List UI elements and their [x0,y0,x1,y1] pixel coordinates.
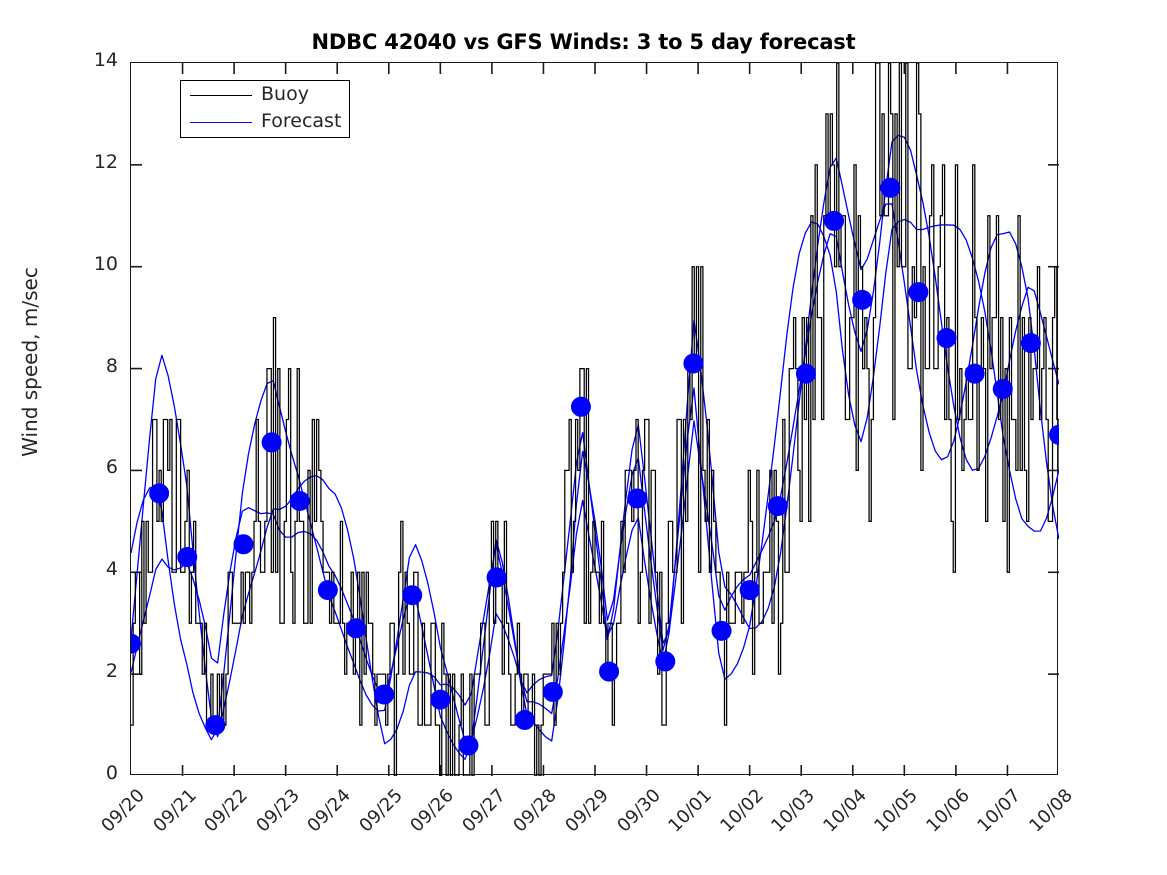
plot-canvas [131,63,1059,776]
axis-ticks [131,63,1059,776]
x-tick-label: 09/21 [142,785,201,844]
legend-entry-buoy: Buoy [181,84,349,108]
x-tick-label: 10/02 [709,785,768,844]
legend-label-forecast: Forecast [261,110,341,132]
legend-swatch-buoy [190,95,252,96]
y-tick-label: 2 [8,660,118,682]
legend-entry-forecast: Forecast [181,111,349,135]
x-tick-label: 10/05 [863,785,922,844]
x-tick-label: 10/06 [915,785,974,844]
x-tick-label: 09/28 [503,785,562,844]
plot-area [130,62,1058,775]
y-tick-label: 0 [8,762,118,784]
y-axis-title: Wind speed, m/sec [18,152,42,572]
chart-figure: NDBC 42040 vs GFS Winds: 3 to 5 day fore… [0,0,1167,875]
buoy-series [131,63,1059,776]
x-tick-label: 09/23 [245,785,304,844]
x-tick-label: 09/26 [399,785,458,844]
legend-box: Buoy Forecast [180,80,350,138]
daily-mean-markers [131,178,1059,755]
x-tick-label: 10/01 [657,785,716,844]
x-tick-label: 10/07 [967,785,1026,844]
legend-swatch-forecast [190,122,252,123]
x-tick-label: 09/20 [90,785,149,844]
x-tick-label: 10/08 [1018,785,1077,844]
legend-label-buoy: Buoy [261,83,309,105]
x-tick-label: 09/22 [193,785,252,844]
x-tick-label: 10/03 [760,785,819,844]
x-tick-label: 09/30 [606,785,665,844]
x-tick-label: 10/04 [812,785,871,844]
x-tick-label: 09/29 [554,785,613,844]
x-tick-label: 09/24 [296,785,355,844]
x-tick-label: 09/27 [451,785,510,844]
x-tick-label: 09/25 [348,785,407,844]
chart-title: NDBC 42040 vs GFS Winds: 3 to 5 day fore… [0,30,1167,54]
